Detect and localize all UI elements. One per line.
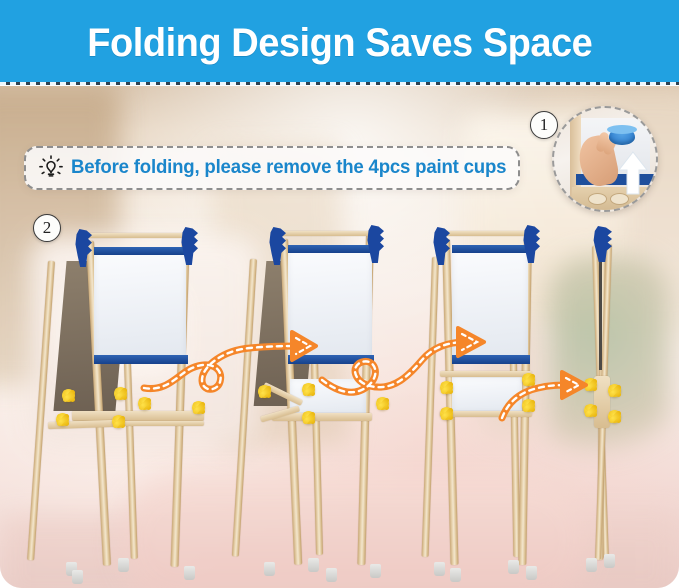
- inset-paint-cup-rim: [607, 125, 637, 134]
- easel2-knob-4: [376, 397, 389, 410]
- easel2-knob-2: [302, 383, 315, 396]
- easel2-board-bottom-trim: [288, 355, 374, 364]
- easel2-top-dowel: [276, 231, 380, 236]
- step-badge-1: 1: [530, 111, 558, 139]
- easel3-foot-2: [450, 568, 461, 582]
- easel2-foot-3: [326, 568, 337, 582]
- callout-text: Before folding, please remove the 4pcs p…: [71, 157, 506, 179]
- easel-knob-side-2: [192, 401, 205, 414]
- easel3-tray-panel: [452, 377, 522, 413]
- header-divider-dashed: [0, 82, 679, 85]
- easel-mostly-folded: [410, 225, 555, 570]
- easel4-knob-2: [584, 404, 597, 417]
- easel2-knob-3: [302, 411, 315, 424]
- easel-foot-2: [118, 558, 129, 572]
- easel2-board-top-trim: [288, 245, 372, 253]
- easel-collapsed: [578, 226, 638, 566]
- easel-foot-4: [184, 566, 195, 580]
- inset-up-arrow-icon: [616, 150, 650, 196]
- easel3-knob-1: [440, 381, 453, 394]
- easel3-rear-leg-left: [422, 257, 439, 557]
- easel2-foot-1: [264, 562, 275, 576]
- easel-tray-shelf: [72, 411, 204, 421]
- easel-partially-folded: [238, 225, 413, 570]
- easel-foot-3: [72, 570, 83, 584]
- easel-knob-upper-right: [114, 387, 127, 400]
- easel2-tray-panel: [290, 379, 366, 415]
- easel3-whiteboard: [452, 247, 528, 359]
- easel4-foot-2: [604, 554, 615, 568]
- step-badge-2: 2: [33, 214, 61, 242]
- easel3-knob-3: [522, 373, 535, 386]
- easel-knob-side: [138, 397, 151, 410]
- easel4-board-edge: [599, 250, 602, 370]
- easel4-foot-1: [586, 558, 597, 572]
- easel3-foot-3: [508, 560, 519, 574]
- inset-cup-hole-1: [588, 193, 607, 205]
- easel3-foot-1: [434, 562, 445, 576]
- easel-knob-lower-left: [56, 413, 69, 426]
- easel3-board-bottom-trim: [452, 355, 530, 364]
- step-badge-2-number: 2: [43, 218, 52, 238]
- easel-whiteboard: [94, 249, 186, 359]
- lightbulb-icon: [36, 153, 66, 183]
- easel-knob-upper-left: [62, 389, 75, 402]
- easel-board-top-trim: [94, 247, 186, 255]
- easel4-knob-1: [584, 378, 597, 391]
- easel4-knob-3: [608, 384, 621, 397]
- easel4-knob-4: [608, 410, 621, 423]
- easel3-top-dowel: [440, 231, 536, 236]
- easel-board-bottom-trim: [94, 355, 188, 364]
- easel3-tray-rail-top: [440, 371, 532, 377]
- easel-open: [42, 225, 232, 570]
- inset-photo-remove-cup: [552, 106, 658, 212]
- easel3-knob-4: [522, 399, 535, 412]
- easel3-board-top-trim: [452, 245, 528, 253]
- easel3-foot-4: [526, 566, 537, 580]
- easel3-tray-rail-bottom: [440, 411, 532, 417]
- header-banner: Folding Design Saves Space: [0, 0, 679, 85]
- easel3-knob-2: [440, 407, 453, 420]
- easel-top-dowel: [82, 233, 194, 238]
- infographic-root: Folding Design Saves Space: [0, 0, 679, 588]
- easel2-knob-1: [258, 385, 271, 398]
- step-badge-1-number: 1: [540, 115, 549, 135]
- easel-knob-lower-right: [112, 415, 125, 428]
- page-title: Folding Design Saves Space: [87, 23, 592, 63]
- callout-banner: Before folding, please remove the 4pcs p…: [24, 146, 520, 190]
- easel2-foot-4: [370, 564, 381, 578]
- easel2-foot-2: [308, 558, 319, 572]
- easel2-whiteboard: [288, 247, 372, 359]
